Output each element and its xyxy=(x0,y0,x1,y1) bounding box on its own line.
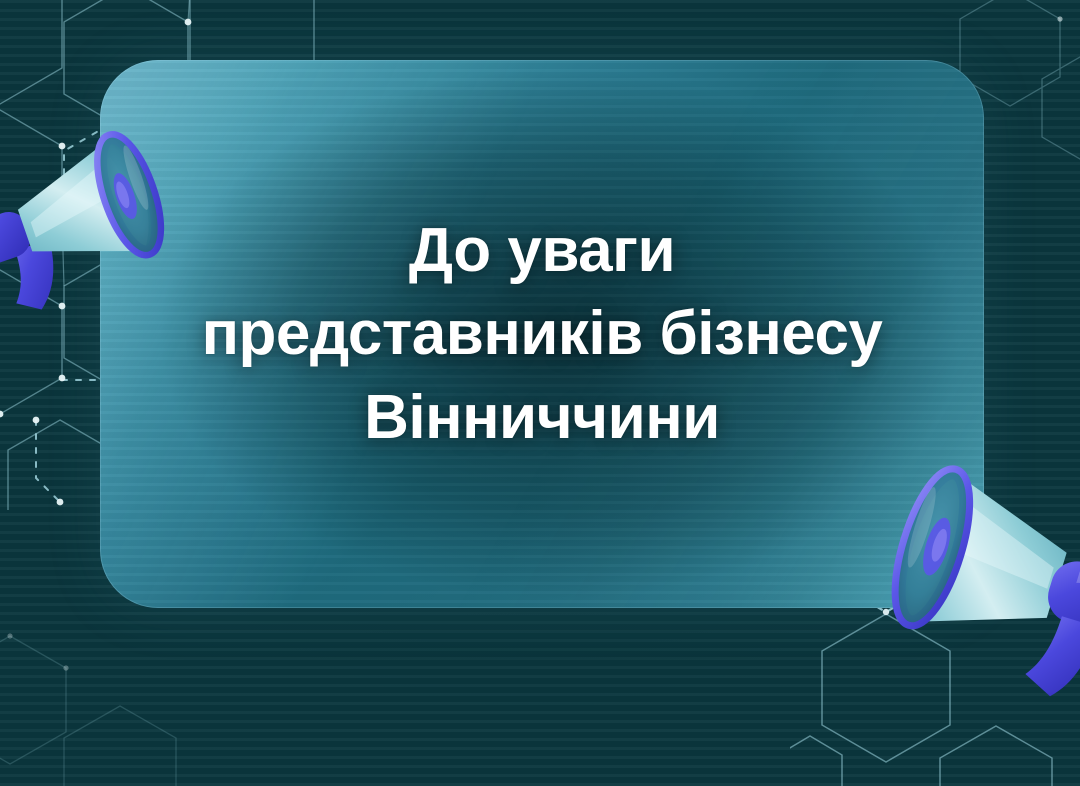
poster-canvas: До уваги представників бізнесу Вінниччин… xyxy=(0,0,1080,786)
headline-line-3: Вінниччини xyxy=(364,378,720,457)
headline-line-2: представників бізнесу xyxy=(202,294,883,373)
headline-line-1: До уваги xyxy=(409,211,675,290)
page-title: До уваги представників бізнесу Вінниччин… xyxy=(100,60,984,608)
